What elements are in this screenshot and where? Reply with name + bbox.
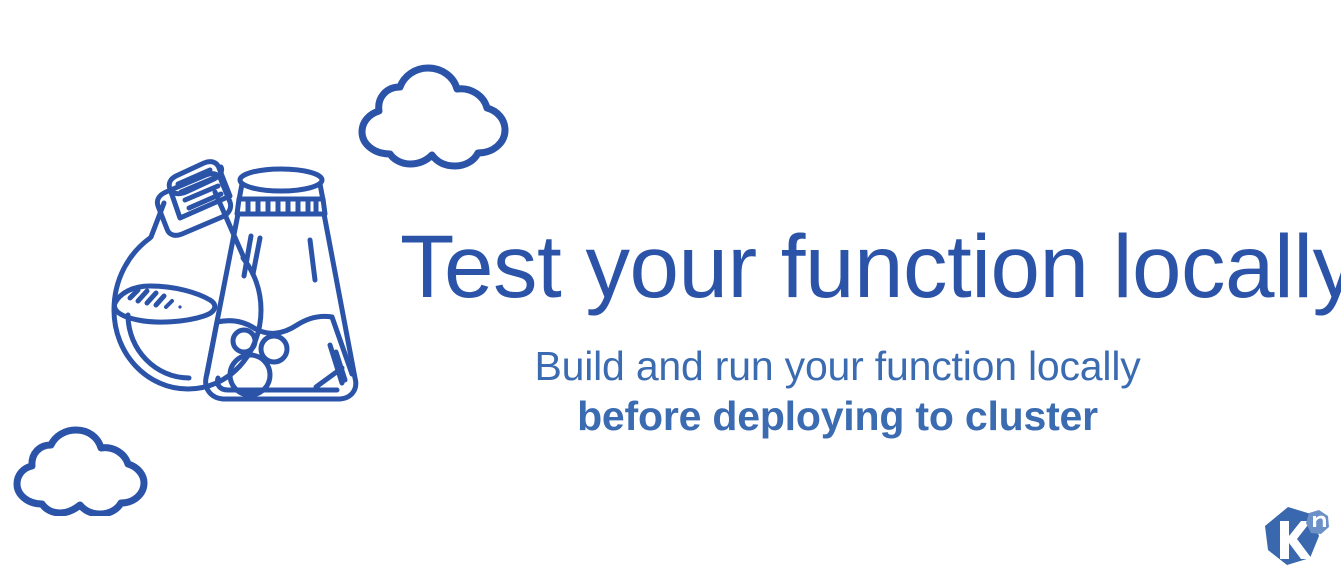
subtitle-line-1: Build and run your function locally (400, 341, 1275, 391)
slide-canvas: Test your function locally Build and run… (0, 0, 1341, 585)
knative-logo (1257, 503, 1331, 575)
erlenmeyer-flask-icon (206, 169, 356, 399)
page-title: Test your function locally (400, 222, 1275, 311)
round-bottom-flask-icon (114, 162, 261, 389)
subtitle-line-2: before deploying to cluster (400, 391, 1275, 441)
cloud-icon (4, 424, 156, 516)
cloud-icon (348, 58, 510, 170)
lab-flasks-illustration (58, 140, 388, 430)
text-block: Test your function locally Build and run… (400, 222, 1275, 441)
